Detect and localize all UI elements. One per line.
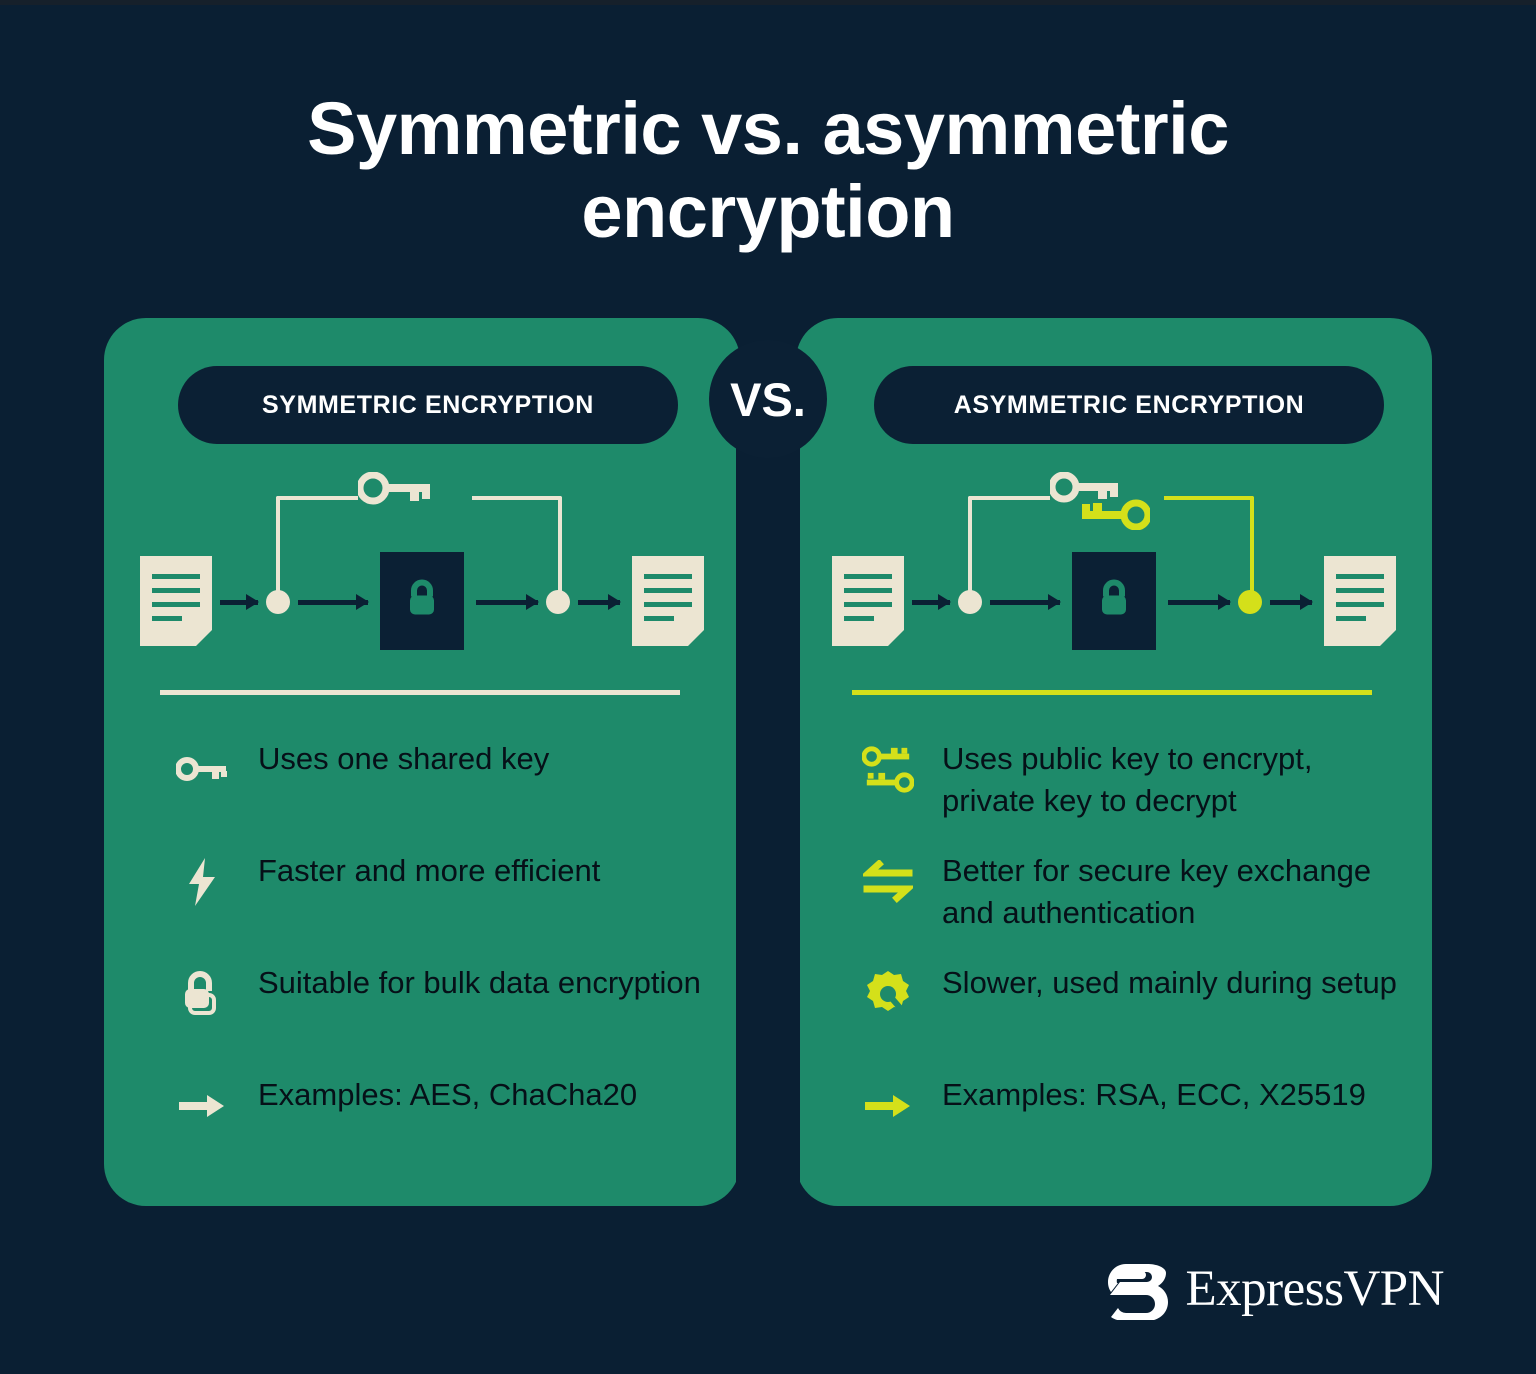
flow-arrow-1 [220, 600, 258, 605]
list-item: Uses one shared key [140, 736, 716, 848]
arrow-right-icon [176, 1080, 228, 1132]
list-item-label: Examples: RSA, ECC, X25519 [942, 1072, 1402, 1116]
list-item-label: Uses one shared key [258, 736, 716, 780]
list-item: Slower, used mainly during setup [826, 960, 1402, 1072]
asymmetric-public-key-node [958, 590, 982, 614]
flow-arrow-3 [1168, 600, 1230, 605]
list-item-label: Examples: AES, ChaCha20 [258, 1072, 716, 1116]
panel-divider-bar [736, 418, 800, 1218]
page-fold [688, 630, 704, 646]
vs-badge: VS. [709, 340, 827, 458]
list-item-label: Suitable for bulk data encryption [258, 960, 716, 1004]
list-item-label: Uses public key to encrypt, private key … [942, 736, 1402, 822]
arrow-right-icon [862, 1080, 914, 1132]
gear-icon [862, 968, 914, 1020]
shared-key-icon [358, 472, 434, 511]
page-fold [888, 630, 904, 646]
page-fold [1380, 630, 1396, 646]
list-item: Examples: RSA, ECC, X25519 [826, 1072, 1402, 1184]
list-item: Better for secure key exchange and authe… [826, 848, 1402, 960]
asymmetric-divider-rule [852, 690, 1372, 695]
flow-arrow-4 [1270, 600, 1312, 605]
asymmetric-flow-diagram [816, 468, 1412, 678]
symmetric-key-node-left [266, 590, 290, 614]
padlock-icon [176, 968, 228, 1020]
flow-arrow-2 [990, 600, 1060, 605]
list-item-label: Better for secure key exchange and authe… [942, 848, 1402, 934]
vs-badge-label: VS. [730, 372, 806, 427]
ciphertext-document-icon [1324, 556, 1396, 646]
symmetric-divider-rule [160, 690, 680, 695]
list-item-label: Slower, used mainly during setup [942, 960, 1402, 1004]
lock-icon [1096, 578, 1132, 625]
list-item: Suitable for bulk data encryption [140, 960, 716, 1072]
asymmetric-private-key-node [1238, 590, 1262, 614]
symmetric-flow-diagram [124, 468, 720, 678]
symmetric-heading-label: SYMMETRIC ENCRYPTION [262, 391, 594, 420]
exchange-icon [862, 856, 914, 908]
top-edge-band [0, 0, 1536, 5]
page-title: Symmetric vs. asymmetric encryption [0, 88, 1536, 254]
comparison-card: SYMMETRIC ENCRYPTION [104, 318, 1432, 1206]
ciphertext-document-icon [632, 556, 704, 646]
symmetric-heading-pill: SYMMETRIC ENCRYPTION [178, 366, 678, 444]
key-icon [176, 744, 228, 796]
asymmetric-bullet-list: Uses public key to encrypt, private key … [826, 736, 1402, 1184]
lightning-icon [176, 856, 228, 908]
symmetric-panel: SYMMETRIC ENCRYPTION [104, 318, 740, 1206]
expressvpn-e-mark-icon [1106, 1258, 1168, 1320]
asymmetric-panel: ASYMMETRIC ENCRYPTION [796, 318, 1432, 1206]
page-fold [196, 630, 212, 646]
symmetric-lock-box [380, 552, 464, 650]
private-key-icon [1078, 498, 1150, 535]
symmetric-bullet-list: Uses one shared key Faster and more effi… [140, 736, 716, 1184]
plaintext-document-icon [832, 556, 904, 646]
symmetric-key-group [342, 468, 502, 546]
flow-arrow-2 [298, 600, 368, 605]
asymmetric-lock-box [1072, 552, 1156, 650]
list-item: Faster and more efficient [140, 848, 716, 960]
asymmetric-heading-label: ASYMMETRIC ENCRYPTION [954, 391, 1305, 420]
list-item: Uses public key to encrypt, private key … [826, 736, 1402, 848]
two-keys-icon [862, 744, 914, 796]
page-title-line-1: Symmetric vs. asymmetric [0, 88, 1536, 171]
list-item: Examples: AES, ChaCha20 [140, 1072, 716, 1184]
plaintext-document-icon [140, 556, 212, 646]
page-title-line-2: encryption [0, 171, 1536, 254]
list-item-label: Faster and more efficient [258, 848, 716, 892]
flow-arrow-1 [912, 600, 950, 605]
symmetric-key-node-right [546, 590, 570, 614]
expressvpn-wordmark: ExpressVPN [1186, 1264, 1445, 1315]
expressvpn-logo: ExpressVPN [1106, 1258, 1445, 1320]
lock-icon [404, 578, 440, 625]
flow-arrow-4 [578, 600, 620, 605]
asymmetric-heading-pill: ASYMMETRIC ENCRYPTION [874, 366, 1384, 444]
asymmetric-key-group [1034, 468, 1194, 546]
flow-arrow-3 [476, 600, 538, 605]
